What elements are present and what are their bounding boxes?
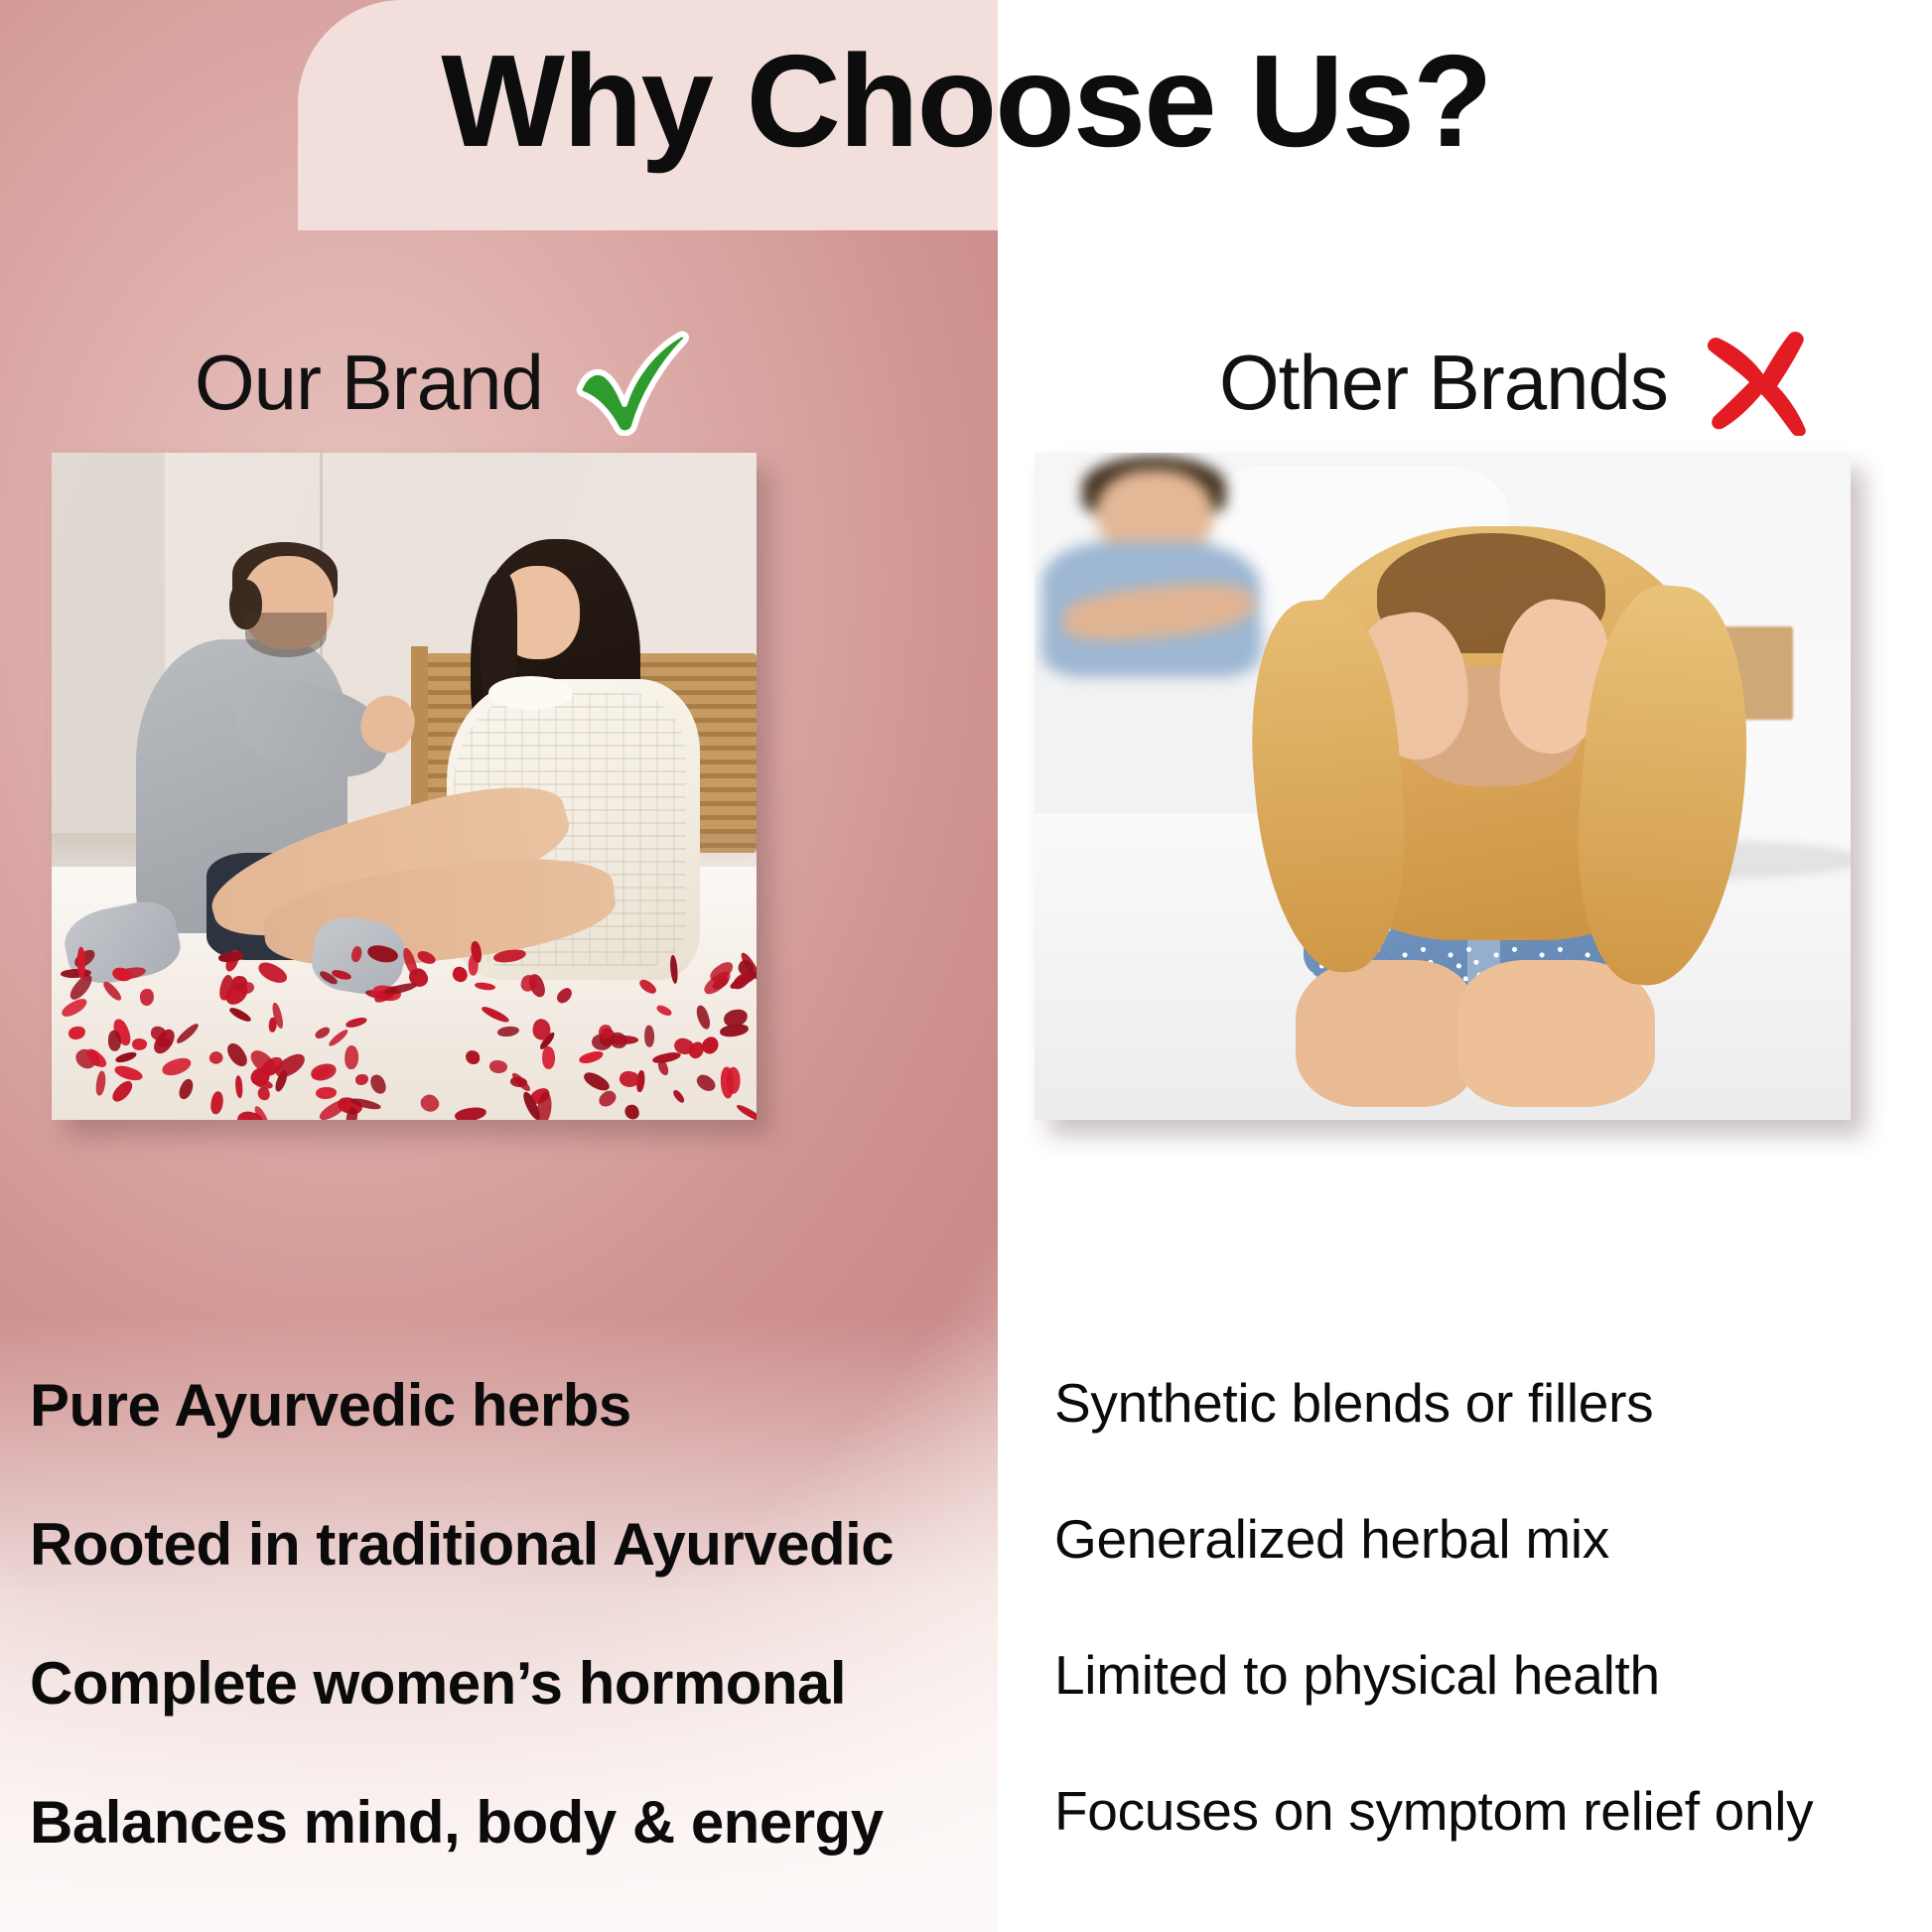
- list-item: Pure Ayurvedic herbs: [30, 1376, 983, 1436]
- our-brand-label: Our Brand: [195, 338, 543, 428]
- man-beard: [245, 613, 327, 656]
- other-brands-heading: Other Brands: [1219, 328, 1813, 437]
- rose-petal: [644, 1026, 654, 1047]
- woman-leg-left: [1296, 960, 1475, 1107]
- other-brands-bullet-list: Synthetic blends or fillers Generalized …: [1054, 1376, 1928, 1839]
- list-item: Generalized herbal mix: [1054, 1512, 1928, 1567]
- list-item: Synthetic blends or fillers: [1054, 1376, 1928, 1431]
- happy-couple-scene: [52, 453, 757, 1120]
- list-item: Limited to physical health: [1054, 1648, 1928, 1703]
- list-item: Rooted in traditional Ayurvedic: [30, 1515, 983, 1575]
- page-title: Why Choose Us?: [0, 36, 1932, 167]
- our-brand-photo: [52, 453, 757, 1120]
- rose-petal: [77, 947, 85, 979]
- rose-petal: [107, 1031, 120, 1051]
- rose-petal: [607, 1035, 637, 1044]
- our-brand-heading: Our Brand: [195, 328, 692, 437]
- green-check-icon: [573, 329, 692, 436]
- other-brands-label: Other Brands: [1219, 338, 1668, 428]
- woman-sweater-collar: [488, 676, 573, 710]
- red-cross-icon: [1698, 329, 1813, 436]
- list-item: Focuses on symptom relief only: [1054, 1784, 1928, 1839]
- why-choose-us-poster: Why Choose Us? Our Brand Other Brands: [0, 0, 1932, 1932]
- upset-woman-scene: [1035, 453, 1851, 1120]
- list-item: Balances mind, body & energy: [30, 1793, 983, 1853]
- other-brands-photo: [1035, 453, 1851, 1120]
- our-brand-bullet-list: Pure Ayurvedic herbs Rooted in tradition…: [30, 1376, 983, 1853]
- list-item: Complete women’s hormonal: [30, 1654, 983, 1714]
